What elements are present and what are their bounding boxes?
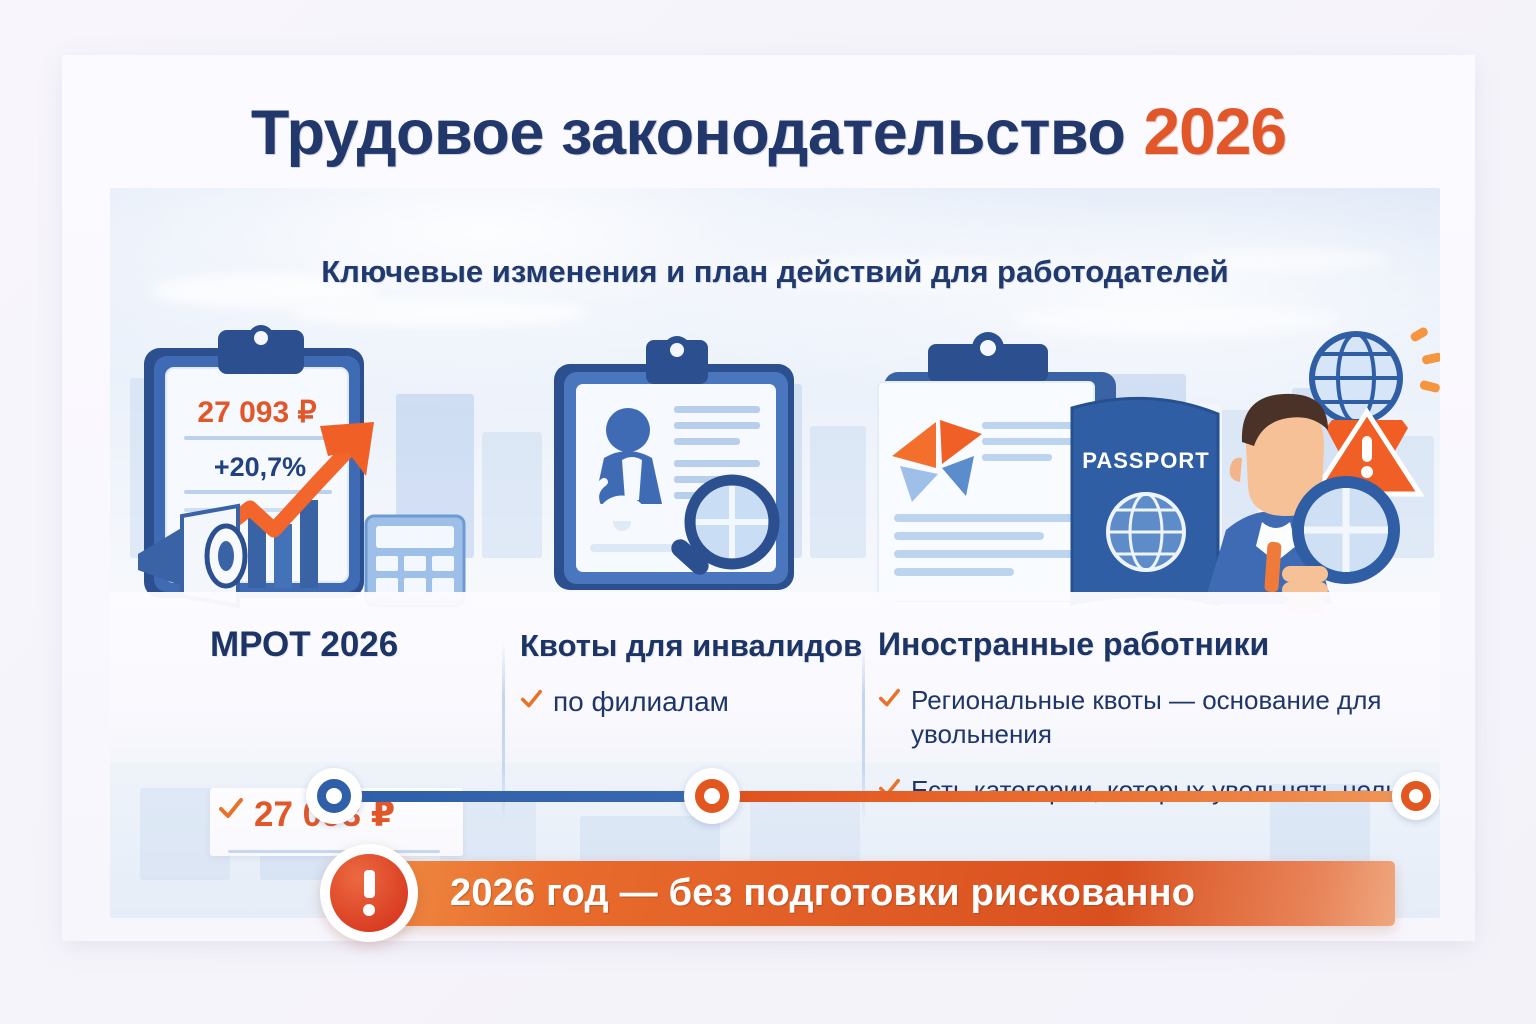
title-year: 2026 [1143, 94, 1286, 168]
alert-circle-inner [330, 854, 408, 932]
check-icon [218, 797, 244, 821]
foreign-illustration: PASSPORT [854, 316, 1440, 616]
mrot-illustration: 27 093 ₽ +20,7% [122, 318, 482, 618]
bullet-foreign-regional-quotas: Региональные квоты — основание для уволь… [878, 683, 1388, 752]
bullet-quotas-branches: по филиалам [520, 684, 729, 721]
infographic-canvas: Трудовое законодательство2026 [0, 0, 1536, 1024]
check-icon [520, 689, 543, 710]
check-icon [878, 688, 901, 709]
warning-banner-text: 2026 год — без подготовки рискованно [380, 872, 1195, 915]
timeline-node-1[interactable] [306, 768, 362, 824]
timeline-node-3[interactable] [1392, 772, 1440, 820]
page-title: Трудовое законодательство2026 [62, 93, 1475, 169]
page-subtitle: Ключевые изменения и план действий для р… [110, 254, 1440, 290]
warning-banner: 2026 год — без подготовки рискованно [380, 861, 1395, 926]
card-heading-quotas: Квоты для инвалидов [520, 628, 862, 664]
timeline-segment-1 [322, 791, 722, 802]
poster: Трудовое законодательство2026 [62, 55, 1475, 941]
card-heading-mrot: МРОТ 2026 [210, 625, 398, 665]
exclamation-glyph [364, 870, 375, 916]
bullet-text: Региональные квоты — основание для уволь… [911, 683, 1388, 752]
illustration-panel: Ключевые изменения и план действий для р… [110, 188, 1440, 918]
bullet-text: по филиалам [553, 684, 729, 721]
mrot-underline [228, 850, 440, 853]
timeline-node-2[interactable] [684, 768, 740, 824]
passport-label: PASSPORT [1082, 448, 1209, 473]
timeline-segment-2 [702, 791, 1440, 802]
mrot-doc-value: 27 093 ₽ [197, 396, 316, 429]
mrot-doc-delta: +20,7% [214, 452, 306, 482]
card-heading-foreign: Иностранные работники [878, 626, 1269, 663]
quotas-illustration [518, 326, 838, 616]
title-main: Трудовое законодательство [251, 98, 1125, 168]
alert-circle-icon [320, 844, 418, 942]
